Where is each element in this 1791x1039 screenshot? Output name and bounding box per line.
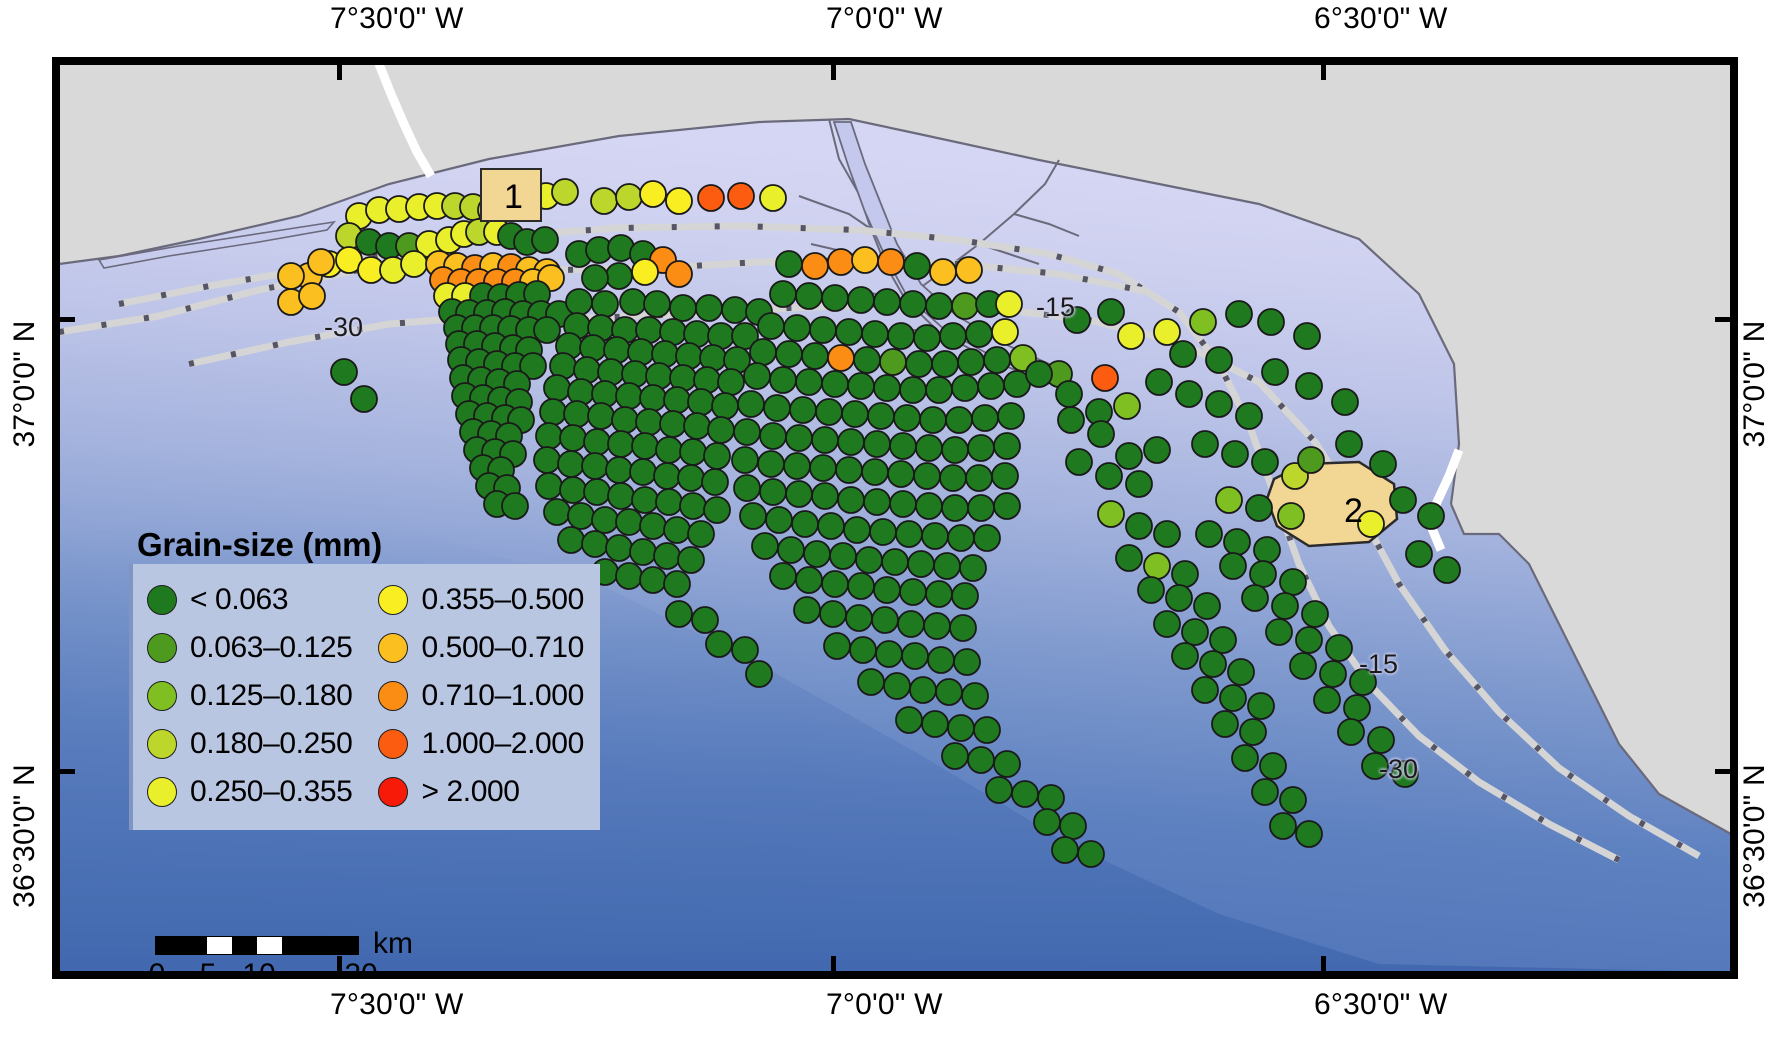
sample-point[interactable] (920, 407, 946, 433)
sample-point[interactable] (894, 405, 920, 431)
sample-point[interactable] (558, 451, 584, 477)
sample-point[interactable] (616, 563, 642, 589)
sample-point[interactable] (790, 397, 816, 423)
sample-point[interactable] (708, 417, 734, 443)
sample-point[interactable] (874, 289, 900, 315)
sample-point[interactable] (351, 386, 377, 412)
sample-point[interactable] (584, 479, 610, 505)
sample-point[interactable] (1170, 341, 1196, 367)
sample-point[interactable] (1296, 821, 1322, 847)
sample-point[interactable] (702, 469, 728, 495)
sample-point[interactable] (792, 511, 818, 537)
legend-item[interactable]: < 0.063 (147, 576, 352, 624)
sample-point[interactable] (968, 495, 994, 521)
sample-point[interactable] (1092, 365, 1118, 391)
sample-point[interactable] (968, 435, 994, 461)
sample-point[interactable] (1192, 431, 1218, 457)
sample-point[interactable] (874, 375, 900, 401)
sample-point[interactable] (890, 491, 916, 517)
sample-point[interactable] (924, 613, 950, 639)
sample-point[interactable] (688, 389, 714, 415)
sample-point[interactable] (544, 499, 570, 525)
sample-point[interactable] (1194, 593, 1220, 619)
sample-point[interactable] (890, 433, 916, 459)
sample-point[interactable] (784, 315, 810, 341)
sample-point[interactable] (656, 489, 682, 515)
sample-point[interactable] (1154, 319, 1180, 345)
sample-point[interactable] (906, 351, 932, 377)
sample-point[interactable] (974, 717, 1000, 743)
sample-point[interactable] (591, 188, 617, 214)
sample-point[interactable] (896, 707, 922, 733)
sample-point[interactable] (536, 473, 562, 499)
sample-point[interactable] (1296, 627, 1322, 653)
sample-point[interactable] (972, 405, 998, 431)
sample-point[interactable] (592, 507, 618, 533)
sample-point[interactable] (908, 551, 934, 577)
sample-point[interactable] (1302, 601, 1328, 627)
sample-point[interactable] (678, 465, 704, 491)
sample-point[interactable] (1126, 513, 1152, 539)
sample-point[interactable] (632, 433, 658, 459)
sample-point[interactable] (636, 409, 662, 435)
sample-point[interactable] (848, 573, 874, 599)
sample-point[interactable] (1262, 359, 1288, 385)
sample-point[interactable] (401, 251, 427, 277)
sample-point[interactable] (778, 537, 804, 563)
sample-point[interactable] (786, 481, 812, 507)
sample-point[interactable] (850, 637, 876, 663)
sample-point[interactable] (632, 259, 658, 285)
sample-point[interactable] (966, 321, 992, 347)
sample-point[interactable] (824, 633, 850, 659)
sample-point[interactable] (620, 289, 646, 315)
sample-point[interactable] (696, 295, 722, 321)
sample-point[interactable] (864, 431, 890, 457)
sample-point[interactable] (606, 535, 632, 561)
sample-point[interactable] (1154, 611, 1180, 637)
sample-point[interactable] (858, 669, 884, 695)
sample-point[interactable] (656, 437, 682, 463)
sample-point[interactable] (952, 293, 978, 319)
sample-point[interactable] (666, 601, 692, 627)
sample-point[interactable] (1434, 557, 1460, 583)
legend-item[interactable]: 0.250–0.355 (147, 768, 352, 816)
sample-point[interactable] (960, 555, 986, 581)
sample-point[interactable] (888, 461, 914, 487)
sample-point[interactable] (1296, 373, 1322, 399)
legend-item[interactable]: 1.000–2.000 (378, 720, 583, 768)
sample-point[interactable] (1066, 449, 1092, 475)
sample-point[interactable] (852, 247, 878, 273)
sample-point[interactable] (1060, 813, 1086, 839)
sample-point[interactable] (1116, 443, 1142, 469)
sample-point[interactable] (588, 403, 614, 429)
sample-point[interactable] (940, 465, 966, 491)
sample-point[interactable] (796, 567, 822, 593)
sample-point[interactable] (986, 777, 1012, 803)
sample-point[interactable] (884, 673, 910, 699)
sample-point[interactable] (1144, 553, 1170, 579)
sample-point[interactable] (1254, 537, 1280, 563)
sample-point[interactable] (1172, 643, 1198, 669)
sample-point[interactable] (822, 571, 848, 597)
sample-point[interactable] (1052, 837, 1078, 863)
sample-point[interactable] (872, 607, 898, 633)
sample-point[interactable] (584, 429, 610, 455)
sample-point[interactable] (900, 291, 926, 317)
sample-point[interactable] (732, 637, 758, 663)
sample-point[interactable] (954, 649, 980, 675)
sample-point[interactable] (776, 251, 802, 277)
legend-item[interactable]: 0.180–0.250 (147, 720, 352, 768)
sample-point[interactable] (532, 227, 558, 253)
sample-point[interactable] (870, 519, 896, 545)
sample-point[interactable] (942, 437, 968, 463)
sample-point[interactable] (942, 743, 968, 769)
sample-point[interactable] (706, 631, 732, 657)
sample-point[interactable] (758, 313, 784, 339)
sample-point[interactable] (582, 265, 608, 291)
sample-point[interactable] (670, 295, 696, 321)
sample-point[interactable] (534, 317, 560, 343)
sample-point[interactable] (1226, 301, 1252, 327)
sample-point[interactable] (616, 383, 642, 409)
sample-point[interactable] (1176, 381, 1202, 407)
sample-point[interactable] (644, 291, 670, 317)
sample-point[interactable] (916, 493, 942, 519)
sample-point[interactable] (1270, 813, 1296, 839)
sample-point[interactable] (862, 321, 888, 347)
sample-point[interactable] (728, 183, 754, 209)
sample-point[interactable] (688, 521, 714, 547)
sample-point[interactable] (966, 465, 992, 491)
sample-point[interactable] (1248, 693, 1274, 719)
sample-point[interactable] (822, 285, 848, 311)
sample-point[interactable] (1206, 391, 1232, 417)
sample-point[interactable] (640, 385, 666, 411)
sample-point[interactable] (934, 553, 960, 579)
sample-point[interactable] (1242, 585, 1268, 611)
sample-point[interactable] (568, 503, 594, 529)
sample-point[interactable] (738, 391, 764, 417)
sample-point[interactable] (1206, 347, 1232, 373)
sample-point[interactable] (744, 363, 770, 389)
sample-point[interactable] (802, 343, 828, 369)
sample-point[interactable] (942, 495, 968, 521)
sample-point[interactable] (612, 407, 638, 433)
sample-point[interactable] (1252, 779, 1278, 805)
sample-point[interactable] (974, 525, 1000, 551)
sample-point[interactable] (848, 287, 874, 313)
sample-point[interactable] (608, 483, 634, 509)
sample-point[interactable] (936, 679, 962, 705)
sample-point[interactable] (1126, 471, 1152, 497)
sample-point[interactable] (828, 345, 854, 371)
sample-point[interactable] (1056, 381, 1082, 407)
sample-point[interactable] (1222, 441, 1248, 467)
sample-point[interactable] (582, 531, 608, 557)
sample-point[interactable] (868, 403, 894, 429)
sample-point[interactable] (560, 477, 586, 503)
sample-point[interactable] (796, 369, 822, 395)
sample-point[interactable] (992, 463, 1018, 489)
sample-point[interactable] (606, 457, 632, 483)
sample-point[interactable] (552, 179, 578, 205)
legend-item[interactable]: 0.710–1.000 (378, 672, 583, 720)
sample-point[interactable] (1212, 711, 1238, 737)
sample-point[interactable] (299, 283, 325, 309)
sample-point[interactable] (680, 493, 706, 519)
sample-point[interactable] (760, 185, 786, 211)
sample-point[interactable] (940, 323, 966, 349)
sample-point[interactable] (1026, 361, 1052, 387)
sample-point[interactable] (1144, 437, 1170, 463)
sample-point[interactable] (664, 571, 690, 597)
sample-point[interactable] (794, 597, 820, 623)
sample-point[interactable] (740, 503, 766, 529)
sample-point[interactable] (856, 547, 882, 573)
sample-point[interactable] (1406, 541, 1432, 567)
sample-point[interactable] (804, 541, 830, 567)
sample-point[interactable] (1314, 687, 1340, 713)
sample-point[interactable] (1118, 323, 1144, 349)
legend-item[interactable]: 0.125–0.180 (147, 672, 352, 720)
sample-point[interactable] (1216, 487, 1242, 513)
sample-point[interactable] (888, 323, 914, 349)
sample-point[interactable] (900, 377, 926, 403)
legend-item[interactable]: 0.500–0.710 (378, 624, 583, 672)
sample-point[interactable] (1078, 841, 1104, 867)
sample-point[interactable] (760, 479, 786, 505)
sample-point[interactable] (760, 423, 786, 449)
sample-point[interactable] (734, 419, 760, 445)
sample-point[interactable] (1196, 521, 1222, 547)
sample-point[interactable] (1228, 659, 1254, 685)
sample-point[interactable] (1260, 753, 1286, 779)
sample-point[interactable] (952, 583, 978, 609)
sample-point[interactable] (616, 184, 642, 210)
sample-point[interactable] (914, 325, 940, 351)
sample-point[interactable] (878, 249, 904, 275)
sample-point[interactable] (660, 411, 686, 437)
sample-point[interactable] (1418, 503, 1444, 529)
sample-point[interactable] (1370, 451, 1396, 477)
sample-point[interactable] (992, 319, 1018, 345)
sample-point[interactable] (844, 517, 870, 543)
sample-point[interactable] (922, 711, 948, 737)
sample-point[interactable] (630, 459, 656, 485)
sample-point[interactable] (1246, 495, 1272, 521)
sample-point[interactable] (592, 291, 618, 317)
sample-point[interactable] (926, 293, 952, 319)
sample-point[interactable] (704, 497, 730, 523)
sample-point[interactable] (846, 605, 872, 631)
sample-point[interactable] (1146, 369, 1172, 395)
sample-point[interactable] (948, 715, 974, 741)
sample-point[interactable] (1098, 299, 1124, 325)
sample-point[interactable] (786, 425, 812, 451)
sample-point[interactable] (882, 549, 908, 575)
sample-point[interactable] (1338, 719, 1364, 745)
sample-point[interactable] (758, 451, 784, 477)
sample-point[interactable] (1224, 529, 1250, 555)
sample-point[interactable] (1280, 569, 1306, 595)
sample-point[interactable] (1114, 393, 1140, 419)
sample-point[interactable] (1240, 719, 1266, 745)
sample-point[interactable] (926, 377, 952, 403)
sample-point[interactable] (914, 463, 940, 489)
sample-point[interactable] (842, 401, 868, 427)
sample-point[interactable] (712, 393, 738, 419)
sample-point[interactable] (874, 577, 900, 603)
sample-point[interactable] (864, 489, 890, 515)
sample-point[interactable] (818, 513, 844, 539)
sample-point[interactable] (1220, 553, 1246, 579)
sample-point[interactable] (684, 413, 710, 439)
sample-point[interactable] (664, 517, 690, 543)
sample-point[interactable] (502, 493, 528, 519)
sample-point[interactable] (640, 567, 666, 593)
sample-point[interactable] (1258, 309, 1284, 335)
sample-point[interactable] (1280, 787, 1306, 813)
sample-point[interactable] (952, 375, 978, 401)
sample-point[interactable] (1172, 561, 1198, 587)
sample-point[interactable] (978, 373, 1004, 399)
sample-point[interactable] (654, 543, 680, 569)
legend-item[interactable]: 0.355–0.500 (378, 576, 583, 624)
sample-point[interactable] (1116, 545, 1142, 571)
sample-point[interactable] (1272, 593, 1298, 619)
sample-point[interactable] (560, 425, 586, 451)
sample-point[interactable] (1236, 403, 1262, 429)
sample-point[interactable] (1290, 653, 1316, 679)
sample-point[interactable] (718, 369, 744, 395)
sample-point[interactable] (900, 579, 926, 605)
sample-point[interactable] (616, 509, 642, 535)
sample-point[interactable] (876, 641, 902, 667)
sample-point[interactable] (1320, 661, 1346, 687)
sample-point[interactable] (564, 401, 590, 427)
sample-point[interactable] (640, 513, 666, 539)
sample-point[interactable] (838, 429, 864, 455)
sample-point[interactable] (1034, 809, 1060, 835)
sample-point[interactable] (1294, 323, 1320, 349)
sample-point[interactable] (764, 395, 790, 421)
sample-point[interactable] (996, 291, 1022, 317)
sample-point[interactable] (632, 487, 658, 513)
sample-point[interactable] (678, 547, 704, 573)
sample-point[interactable] (922, 523, 948, 549)
sample-point[interactable] (1182, 619, 1208, 645)
sample-point[interactable] (1298, 447, 1324, 473)
sample-point[interactable] (916, 435, 942, 461)
sample-point[interactable] (1190, 309, 1216, 335)
sample-point[interactable] (766, 507, 792, 533)
sample-point[interactable] (692, 607, 718, 633)
sample-point[interactable] (664, 387, 690, 413)
sample-point[interactable] (582, 453, 608, 479)
legend-item[interactable]: 0.063–0.125 (147, 624, 352, 672)
sample-point[interactable] (1336, 431, 1362, 457)
sample-point[interactable] (910, 677, 936, 703)
sample-point[interactable] (1266, 619, 1292, 645)
sample-point[interactable] (898, 611, 924, 637)
sample-point[interactable] (746, 661, 772, 687)
sample-point[interactable] (932, 351, 958, 377)
sample-point[interactable] (734, 475, 760, 501)
sample-point[interactable] (836, 319, 862, 345)
sample-point[interactable] (946, 407, 972, 433)
sample-point[interactable] (880, 349, 906, 375)
sample-point[interactable] (1278, 503, 1304, 529)
sample-point[interactable] (704, 443, 730, 469)
sample-point[interactable] (752, 533, 778, 559)
sample-point[interactable] (1252, 449, 1278, 475)
sample-point[interactable] (828, 249, 854, 275)
sample-point[interactable] (968, 747, 994, 773)
sample-point[interactable] (278, 263, 304, 289)
sample-point[interactable] (1138, 577, 1164, 603)
sample-point[interactable] (904, 253, 930, 279)
sample-point[interactable] (1154, 521, 1180, 547)
sample-point[interactable] (810, 455, 836, 481)
sample-point[interactable] (544, 375, 570, 401)
legend-item[interactable]: > 2.000 (378, 768, 583, 816)
sample-point[interactable] (770, 563, 796, 589)
sample-point[interactable] (1038, 785, 1064, 811)
sample-point[interactable] (558, 527, 584, 553)
sample-point[interactable] (1210, 627, 1236, 653)
sample-point[interactable] (722, 297, 748, 323)
sample-point[interactable] (776, 341, 802, 367)
sample-point[interactable] (540, 399, 566, 425)
sample-point[interactable] (1250, 561, 1276, 587)
sample-point[interactable] (958, 349, 984, 375)
sample-point[interactable] (1058, 407, 1084, 433)
sample-point[interactable] (1166, 585, 1192, 611)
sample-point[interactable] (1326, 635, 1352, 661)
sample-point[interactable] (984, 347, 1010, 373)
sample-point[interactable] (812, 483, 838, 509)
sample-point[interactable] (802, 253, 828, 279)
sample-point[interactable] (896, 521, 922, 547)
sample-point[interactable] (680, 439, 706, 465)
sample-point[interactable] (928, 647, 954, 673)
sample-point[interactable] (1096, 463, 1122, 489)
sample-point[interactable] (812, 427, 838, 453)
sample-point[interactable] (654, 463, 680, 489)
study-area-1-box[interactable]: 1 (480, 168, 542, 222)
sample-point[interactable] (1098, 501, 1124, 527)
sample-point[interactable] (838, 487, 864, 513)
sample-point[interactable] (956, 257, 982, 283)
sample-point[interactable] (862, 459, 888, 485)
sample-point[interactable] (566, 289, 592, 315)
sample-point[interactable] (950, 615, 976, 641)
sample-point[interactable] (770, 367, 796, 393)
sample-point[interactable] (1200, 651, 1226, 677)
sample-point[interactable] (1192, 677, 1218, 703)
sample-point[interactable] (1332, 389, 1358, 415)
sample-point[interactable] (994, 751, 1020, 777)
sample-point[interactable] (820, 601, 846, 627)
sample-point[interactable] (1088, 421, 1114, 447)
sample-point[interactable] (770, 281, 796, 307)
sample-point[interactable] (536, 423, 562, 449)
sample-point[interactable] (732, 447, 758, 473)
sample-point[interactable] (822, 371, 848, 397)
